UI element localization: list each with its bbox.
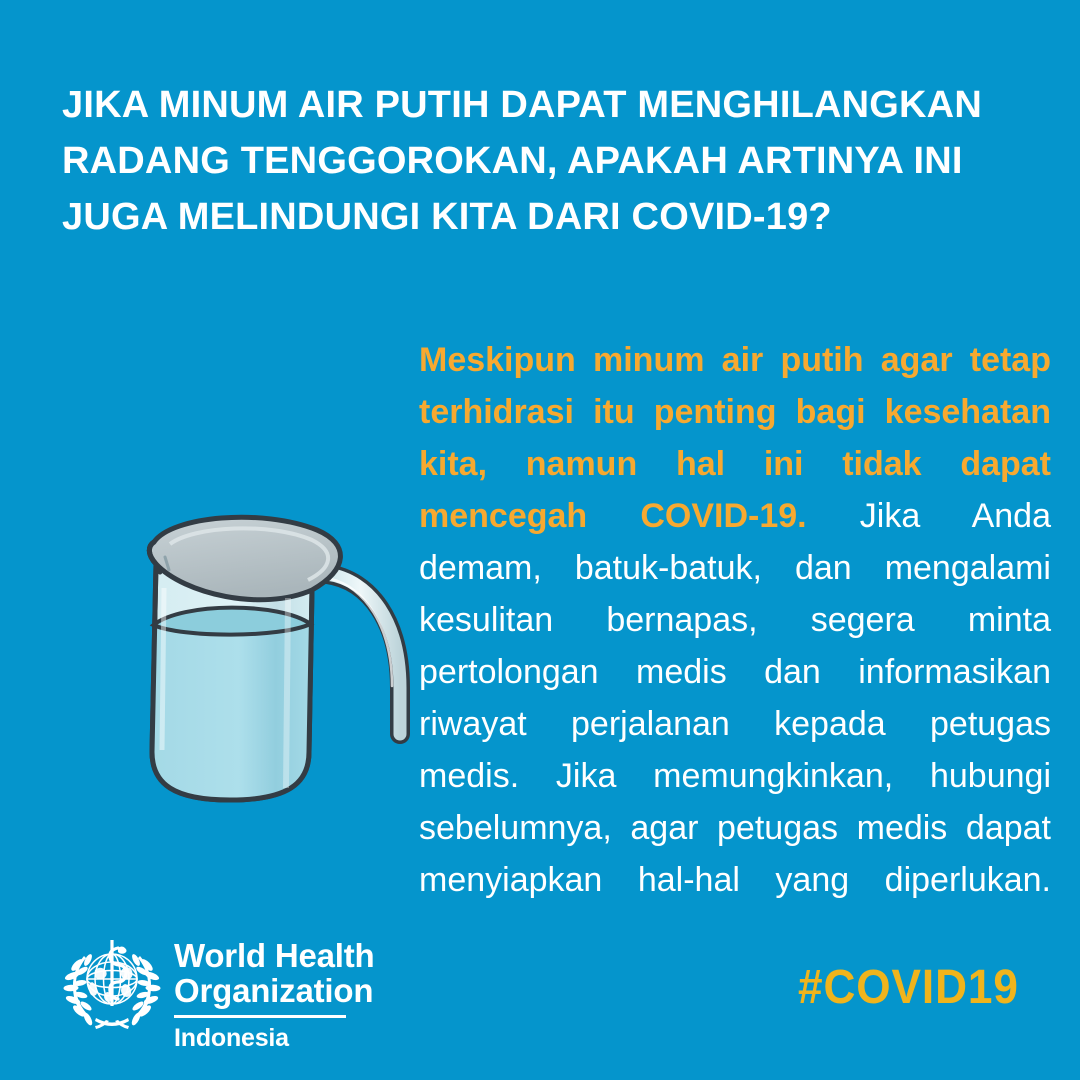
page-title: JIKA MINUM AIR PUTIH DAPAT MENGHILANGKAN…	[62, 77, 1022, 245]
body-paragraph: Meskipun minum air putih agar tetap terh…	[419, 334, 1051, 958]
who-name-line-2: Organization	[174, 973, 375, 1008]
hashtag-covid19: #COVID19	[798, 962, 1019, 1014]
water-pitcher-illustration	[112, 502, 412, 832]
who-wordmark: World Health Organization Indonesia	[174, 932, 375, 1052]
who-name-line-1: World Health	[174, 938, 375, 973]
who-logo: World Health Organization Indonesia	[62, 932, 375, 1052]
body-rest-sentence: Jika Anda demam, batuk-batuk, dan mengal…	[419, 497, 1051, 899]
logo-divider-rule	[174, 1015, 346, 1018]
who-emblem-icon	[62, 932, 162, 1032]
who-country-label: Indonesia	[174, 1024, 375, 1052]
poster-canvas: JIKA MINUM AIR PUTIH DAPAT MENGHILANGKAN…	[0, 0, 1080, 1080]
